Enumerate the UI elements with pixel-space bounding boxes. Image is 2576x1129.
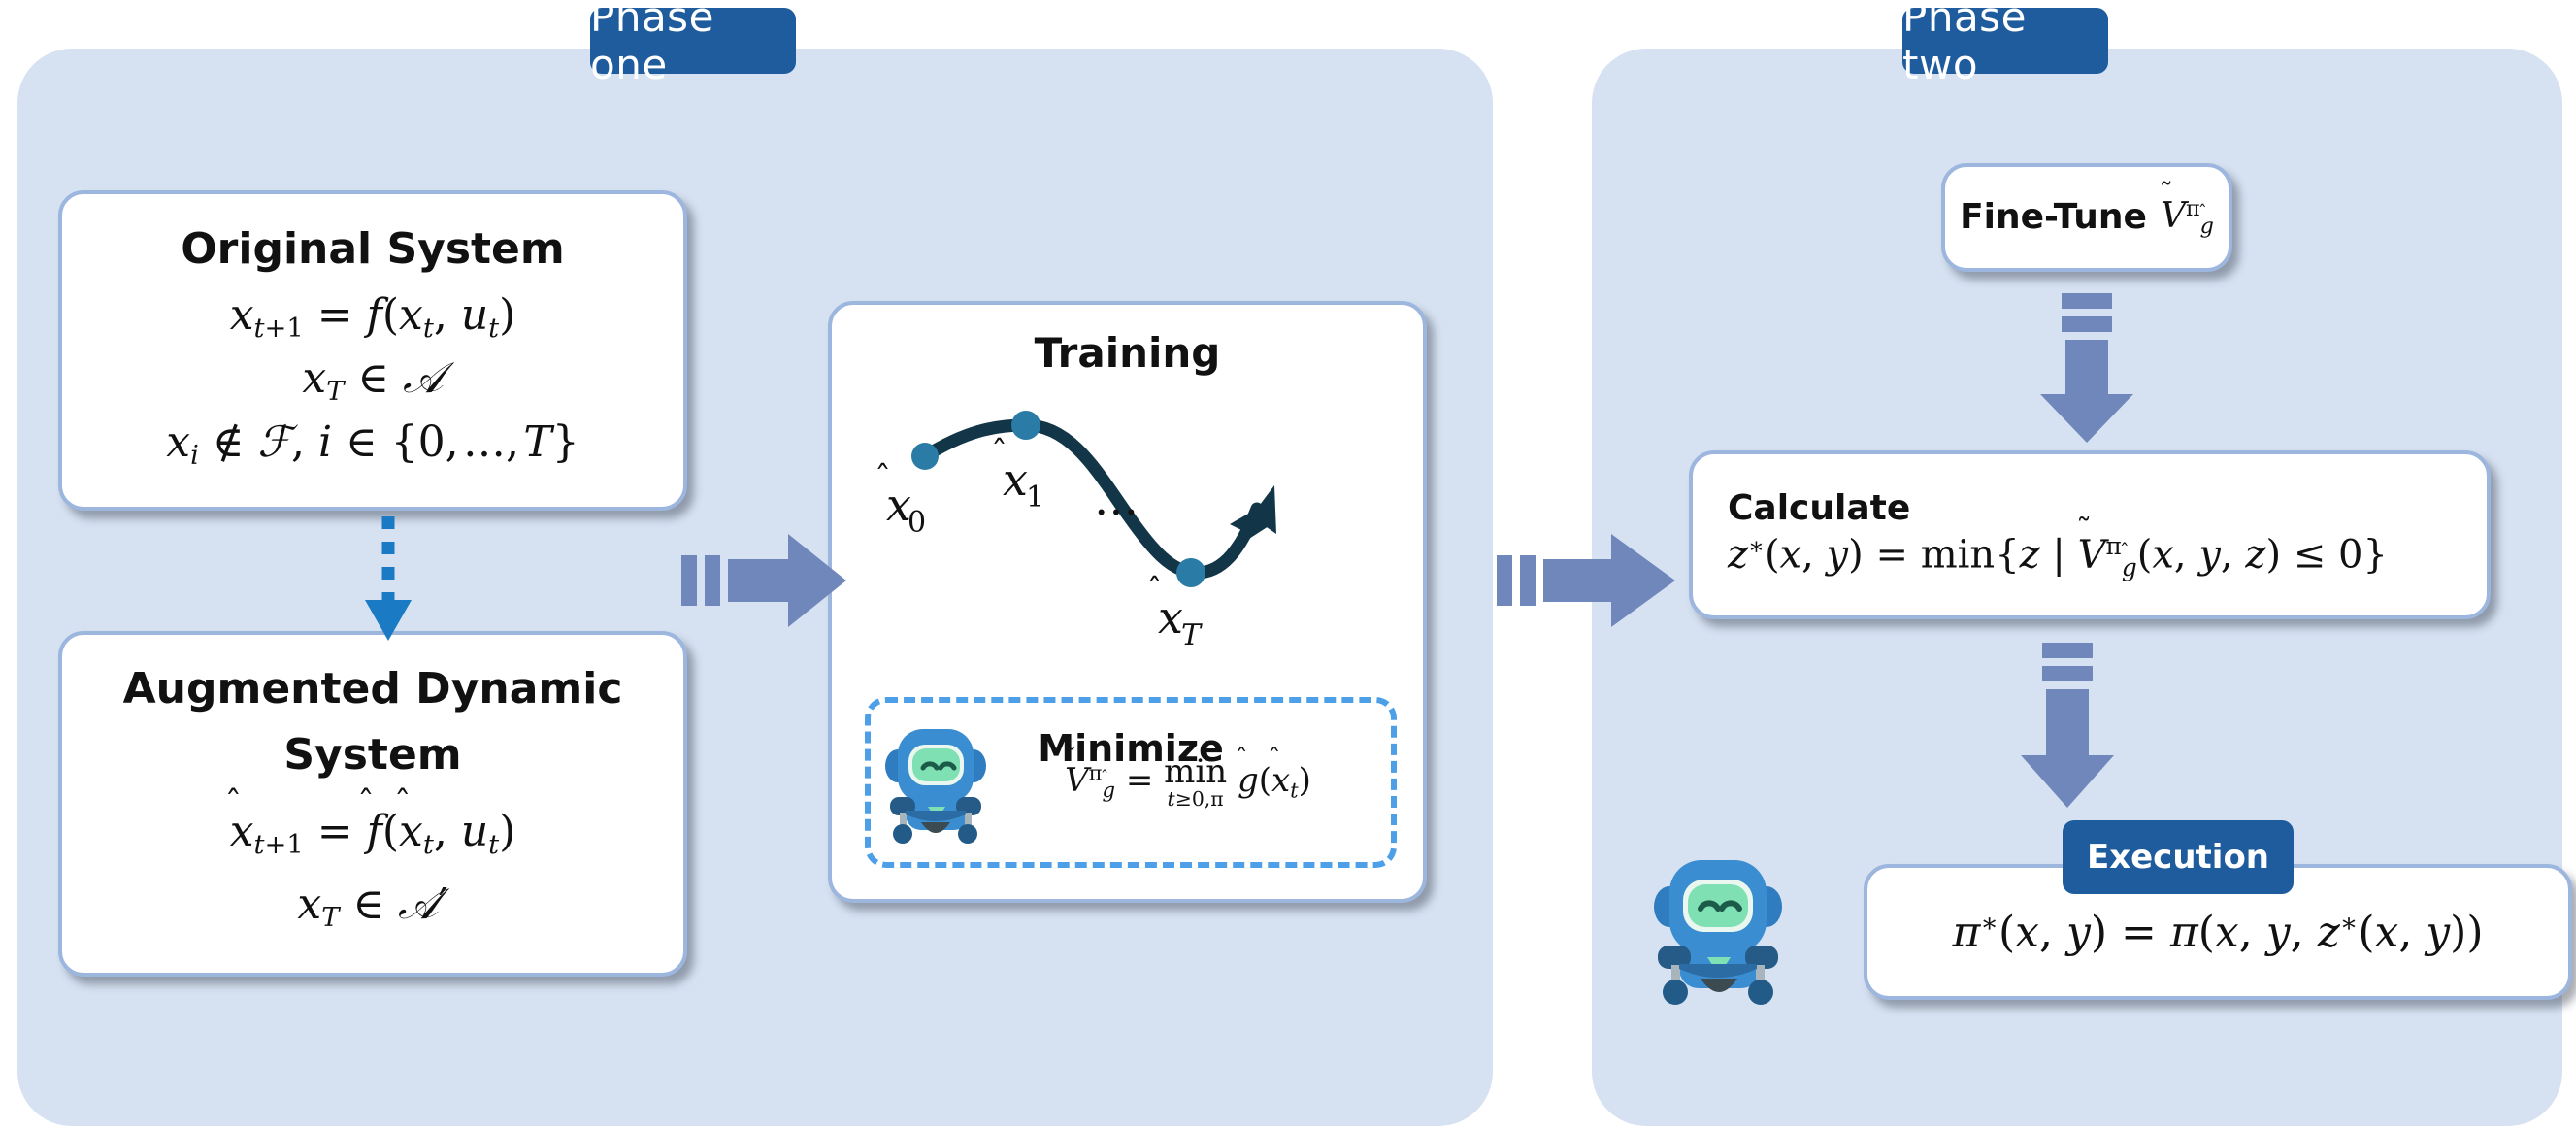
phase-two-badge: Phase two bbox=[1902, 8, 2108, 74]
block-arrow-right-2 bbox=[1495, 522, 1689, 639]
svg-text:x: x bbox=[1158, 591, 1183, 644]
augmented-system-equation-2: xT ∈ 𝒜′ bbox=[297, 880, 447, 933]
training-card: Training x 0 ̂ x 1 ̂ … x T ̂ bbox=[828, 301, 1427, 903]
augmented-system-equation-1: x̂t+1 = f̂(x̂t, ut) bbox=[230, 807, 516, 860]
execution-equation: π∗(x, y) = π(x, y, z∗(x, y)) bbox=[1953, 908, 2484, 957]
original-system-equation-2: xT ∈ 𝒜 bbox=[302, 353, 443, 407]
fine-tune-symbol: Ṽπĝ bbox=[2161, 196, 2214, 240]
augmented-system-title-line2: System bbox=[283, 731, 461, 780]
training-title: Training bbox=[832, 330, 1423, 377]
robot-icon bbox=[882, 721, 989, 844]
svg-text:x: x bbox=[1003, 453, 1028, 506]
svg-text:̂: ̂ bbox=[994, 438, 1005, 444]
original-system-card: Original System xt+1 = f(xt, ut) xT ∈ 𝒜 … bbox=[58, 190, 687, 511]
svg-text:̂: ̂ bbox=[1149, 576, 1160, 581]
svg-text:1: 1 bbox=[1026, 481, 1044, 515]
block-arrow-down-2 bbox=[1999, 641, 2135, 815]
minimize-box: Minimize Ṽπĝ = min t≥0,π ĝ(x̂t) bbox=[865, 697, 1397, 868]
svg-text:0: 0 bbox=[908, 506, 926, 540]
trajectory-sketch: x 0 ̂ x 1 ̂ … x T ̂ bbox=[849, 392, 1412, 654]
robot-icon bbox=[1650, 850, 1786, 1006]
svg-text:T: T bbox=[1181, 618, 1203, 652]
svg-text:̂: ̂ bbox=[877, 463, 888, 469]
fine-tune-card: Fine-Tune Ṽπĝ bbox=[1941, 163, 2232, 272]
calculate-equation: z∗(x, y) = min{z | Ṽπĝ(x, y, z) ≤ 0} bbox=[1728, 532, 2388, 581]
svg-text:…: … bbox=[1094, 473, 1139, 525]
original-system-title: Original System bbox=[181, 225, 564, 274]
augmented-system-title-line1: Augmented Dynamic bbox=[123, 665, 623, 714]
calculate-title: Calculate bbox=[1728, 488, 1910, 528]
block-arrow-down-1 bbox=[2019, 291, 2155, 447]
augmented-system-card: Augmented Dynamic System x̂t+1 = f̂(x̂t,… bbox=[58, 631, 687, 977]
phase-one-badge: Phase one bbox=[590, 8, 796, 74]
calculate-card: Calculate z∗(x, y) = min{z | Ṽπĝ(x, y,… bbox=[1689, 450, 2491, 619]
block-arrow-right-1 bbox=[679, 522, 854, 639]
fine-tune-label: Fine-Tune bbox=[1960, 197, 2147, 237]
execution-badge: Execution bbox=[2063, 820, 2294, 894]
original-system-equation-1: xt+1 = f(xt, ut) bbox=[230, 290, 516, 344]
original-system-equation-3: xi ∉ ℱ, i ∈ {0, …, T} bbox=[166, 417, 578, 471]
dotted-down-arrow bbox=[311, 516, 466, 648]
